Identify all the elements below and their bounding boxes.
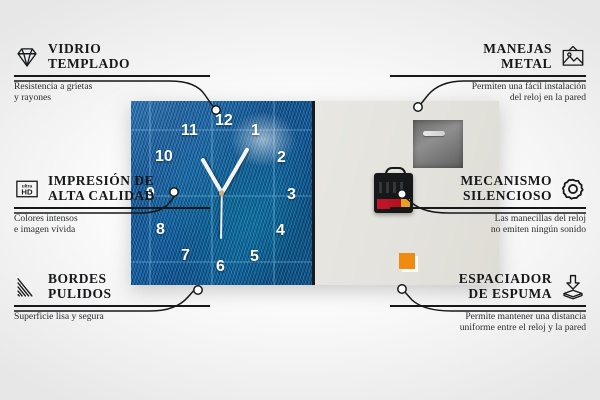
feature-description-line2: no emiten ningún sonido bbox=[390, 224, 586, 236]
feature-description-line1: Resistencia a grietas bbox=[14, 81, 210, 93]
feature-divider bbox=[390, 207, 586, 209]
clock-numeral: 6 bbox=[216, 259, 225, 275]
polished-edges-icon bbox=[14, 274, 40, 300]
feature-vidrio-templado: VIDRIO TEMPLADO Resistencia a grietas y … bbox=[14, 42, 210, 104]
clock-numeral: 12 bbox=[215, 113, 233, 129]
feature-title: VIDRIO TEMPLADO bbox=[48, 42, 130, 71]
gear-icon bbox=[560, 176, 586, 202]
foam-spacer-icon bbox=[560, 274, 586, 300]
svg-text:HD: HD bbox=[21, 187, 33, 196]
feature-impresion-alta-calidad: ultra HD IMPRESIÓN DE ALTA CALIDAD Color… bbox=[14, 174, 210, 236]
feature-title: IMPRESIÓN DE ALTA CALIDAD bbox=[48, 174, 155, 203]
feature-divider bbox=[14, 207, 210, 209]
diamond-icon bbox=[14, 44, 40, 70]
feature-header: ESPACIADOR DE ESPUMA bbox=[390, 272, 586, 301]
feature-description-line1: Permiten una fácil instalación bbox=[390, 81, 586, 93]
feature-divider bbox=[14, 305, 210, 307]
infographic-canvas: 12 1 2 3 4 5 6 7 8 9 10 11 bbox=[0, 0, 600, 400]
metal-hanger-plate bbox=[413, 120, 463, 168]
feature-header: ultra HD IMPRESIÓN DE ALTA CALIDAD bbox=[14, 174, 210, 203]
feature-mecanismo-silencioso: MECANISMO SILENCIOSO Las manecillas del … bbox=[390, 174, 586, 236]
clock-numeral: 11 bbox=[181, 123, 198, 139]
clock-second-hand bbox=[220, 193, 222, 239]
feature-header: MANEJAS METAL bbox=[390, 42, 586, 71]
feature-divider bbox=[390, 75, 586, 77]
feature-description-line2: y rayones bbox=[14, 92, 210, 104]
feature-title: MANEJAS METAL bbox=[483, 42, 552, 71]
feature-description-line2: del reloj en la pared bbox=[390, 92, 586, 104]
feature-description-line1: Colores intensos bbox=[14, 213, 210, 225]
feature-header: MECANISMO SILENCIOSO bbox=[390, 174, 586, 203]
clock-numeral: 4 bbox=[276, 223, 285, 239]
feature-title: BORDES PULIDOS bbox=[48, 272, 112, 301]
clock-center-pin bbox=[219, 191, 224, 196]
clock-numeral: 7 bbox=[181, 248, 190, 264]
picture-hanger-icon bbox=[560, 44, 586, 70]
feature-divider bbox=[14, 75, 210, 77]
feature-description-line2: e imagen vívida bbox=[14, 224, 210, 236]
feature-description-line1: Superficie lisa y segura bbox=[14, 311, 210, 323]
foam-spacer-pad bbox=[399, 253, 415, 269]
feature-description-line1: Permite mantener una distancia bbox=[390, 311, 586, 323]
feature-espaciador-espuma: ESPACIADOR DE ESPUMA Permite mantener un… bbox=[390, 272, 586, 334]
clock-numeral: 1 bbox=[251, 123, 260, 139]
feature-title: ESPACIADOR DE ESPUMA bbox=[459, 272, 552, 301]
feature-manejas-metal: MANEJAS METAL Permiten una fácil instala… bbox=[390, 42, 586, 104]
clock-numeral: 2 bbox=[277, 150, 286, 166]
clock-numeral: 3 bbox=[287, 187, 296, 203]
feature-description-line2: uniforme entre el reloj y la pared bbox=[390, 322, 586, 334]
feature-title: MECANISMO SILENCIOSO bbox=[461, 174, 553, 203]
clock-numeral: 10 bbox=[155, 149, 173, 165]
feature-bordes-pulidos: BORDES PULIDOS Superficie lisa y segura bbox=[14, 272, 210, 322]
ultra-hd-icon: ultra HD bbox=[14, 176, 40, 202]
feature-divider bbox=[390, 305, 586, 307]
feature-header: BORDES PULIDOS bbox=[14, 272, 210, 301]
feature-description-line1: Las manecillas del reloj bbox=[390, 213, 586, 225]
clock-numeral: 5 bbox=[250, 249, 259, 265]
feature-header: VIDRIO TEMPLADO bbox=[14, 42, 210, 71]
